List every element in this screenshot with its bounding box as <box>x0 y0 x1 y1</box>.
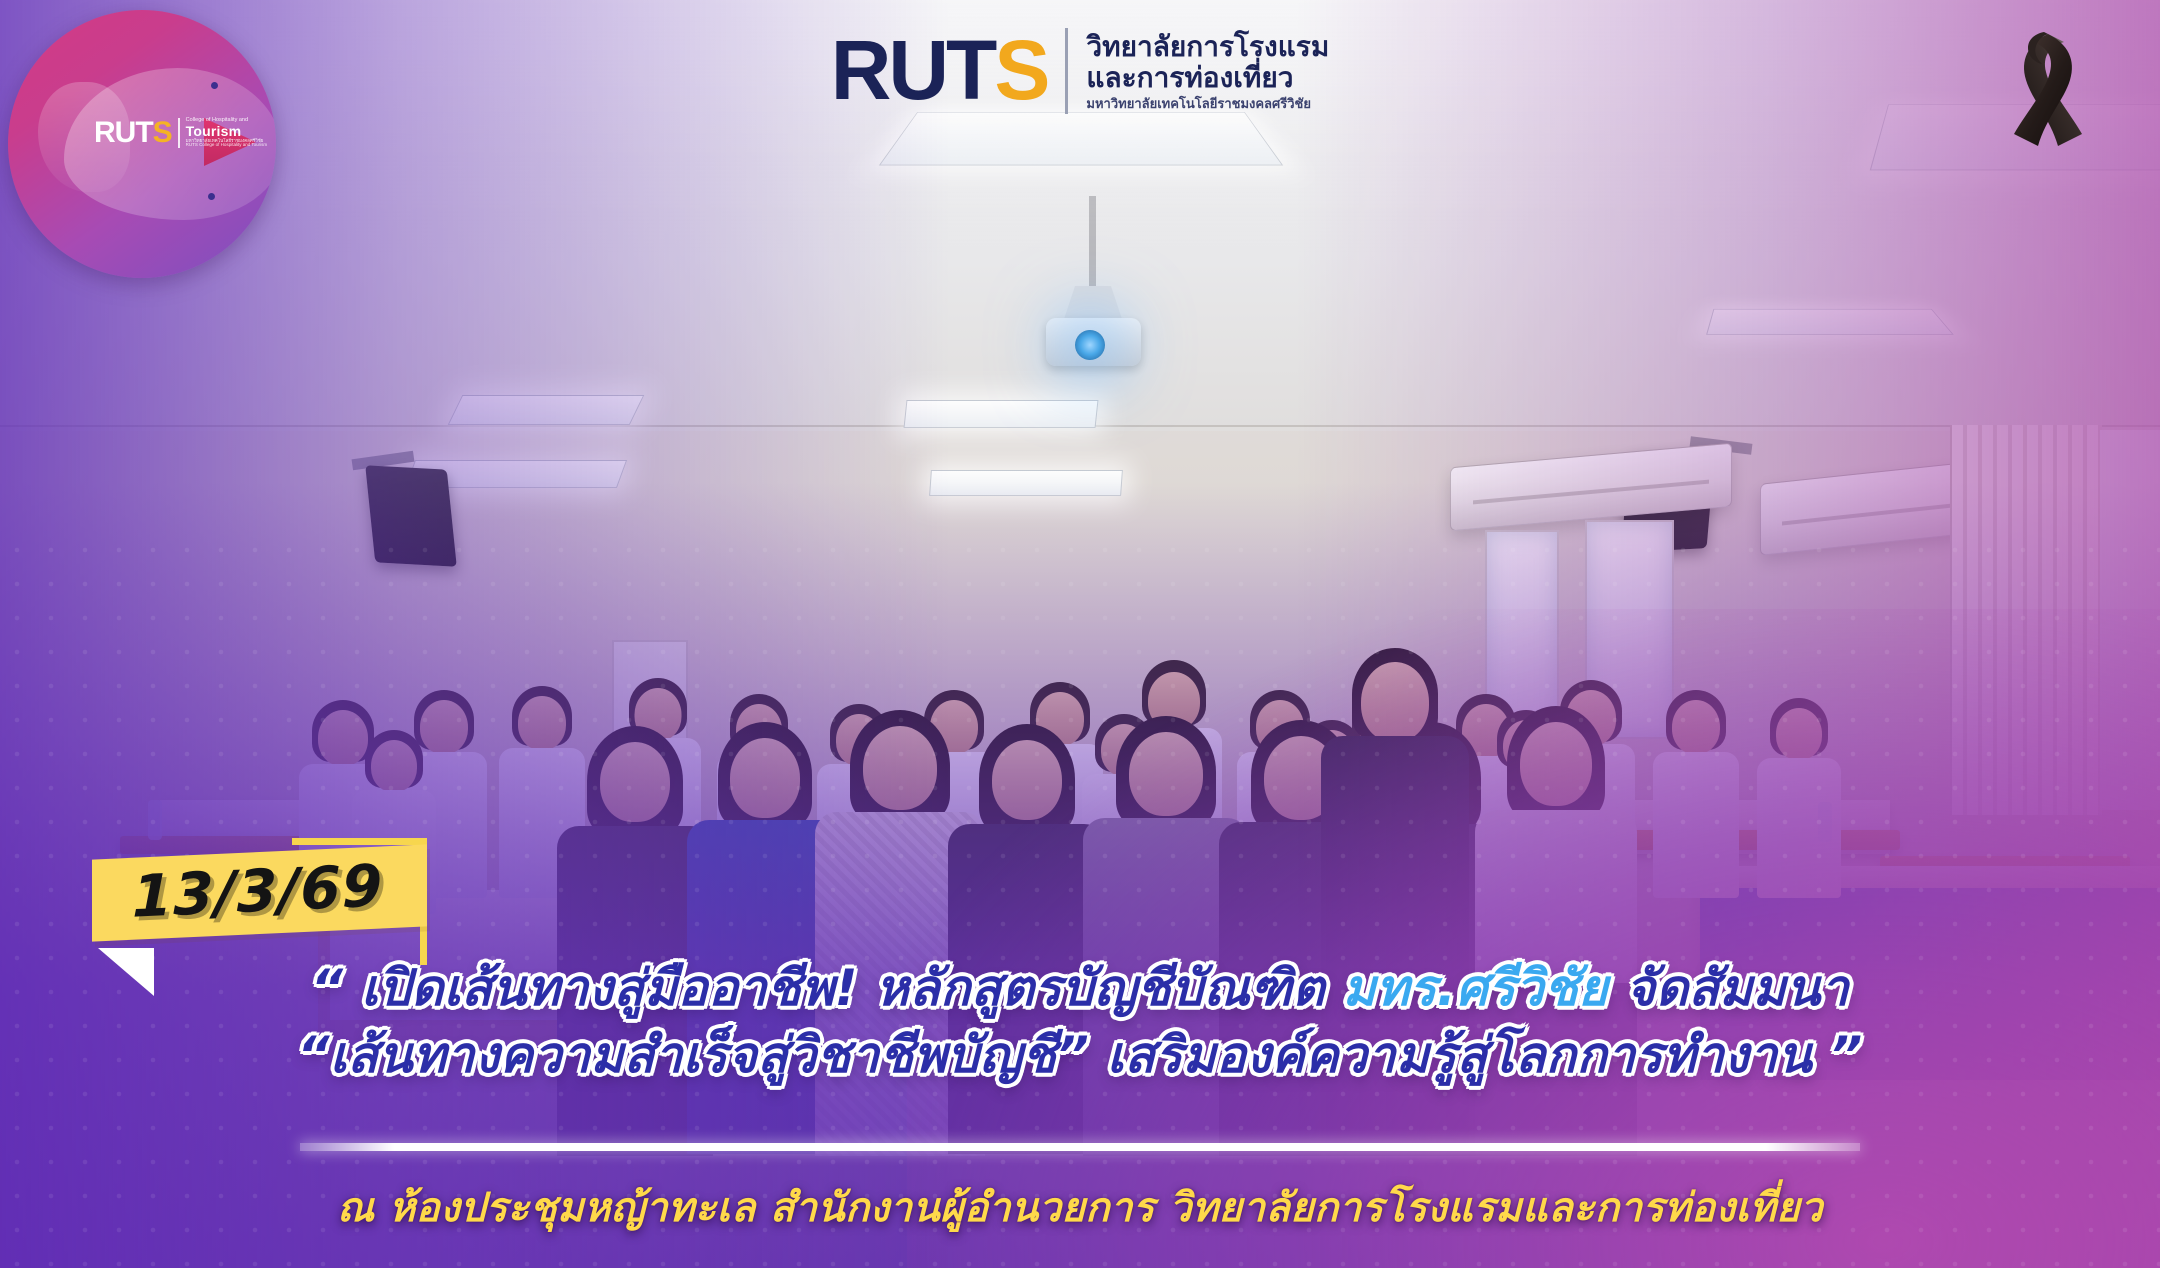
ruts-wordmark-primary: RUT <box>831 23 995 117</box>
headline-line-1: “ เปิดเส้นทางสู่มืออาชีพ! หลักสูตรบัญชีบ… <box>0 955 2160 1022</box>
circle-wordmark-accent: S <box>153 116 172 149</box>
circle-logo-wordmark: RUTS <box>94 118 172 148</box>
ruts-wordmark-accent: S <box>994 23 1047 117</box>
ruts-thai-line-2: และการท่องเที่ยว <box>1086 62 1329 93</box>
logo-dot <box>208 193 215 200</box>
logo-divider <box>1065 28 1068 114</box>
event-date-badge: 13/3/69 <box>92 852 427 934</box>
ruts-thai-line-3: มหาวิทยาลัยเทคโนโลยีราชมงคลศรีวิชัย <box>1086 97 1329 112</box>
headline-divider <box>300 1143 1860 1151</box>
headline-line-1-accent: มทร.ศรีวิชัย <box>1343 959 1608 1017</box>
circle-logo-line-bottom2: RUTS College of Hospitality and Tourism <box>186 143 267 148</box>
projector-lens <box>1075 330 1105 360</box>
circle-wordmark-primary: RUT <box>94 116 153 149</box>
ruts-thai-line-1: วิทยาลัยการโรงแรม <box>1086 31 1329 62</box>
headline-line-2: “เส้นทางความสำเร็จสู่วิชาชีพบัญชี” เสริม… <box>0 1022 2160 1089</box>
circle-logo-lockup: RUTS College of Hospitality and Tourism … <box>94 118 267 148</box>
headline-line-1-after: จัดสัมมนา <box>1608 959 1849 1017</box>
circle-logo-text: College of Hospitality and Tourism มหาวิ… <box>186 118 267 148</box>
circle-logo-line-top: College of Hospitality and <box>186 118 267 124</box>
event-poster: RUTS College of Hospitality and Tourism … <box>0 0 2160 1268</box>
badge-body: 13/3/69 <box>92 844 427 941</box>
ruts-wordmark: RUTS <box>831 33 1048 109</box>
black-mourning-ribbon-icon <box>1984 14 2112 164</box>
ruts-header-logo: RUTS วิทยาลัยการโรงแรม และการท่องเที่ยว … <box>0 28 2160 114</box>
logo-divider <box>178 118 180 148</box>
headline-line-1-before: “ เปิดเส้นทางสู่มืออาชีพ! หลักสูตรบัญชีบ… <box>311 959 1343 1017</box>
circle-logo-line-main: Tourism <box>186 124 267 139</box>
headline-block: “ เปิดเส้นทางสู่มืออาชีพ! หลักสูตรบัญชีบ… <box>0 955 2160 1089</box>
venue-caption: ณ ห้องประชุมหญ้าทะเล สำนักงานผู้อำนวยการ… <box>0 1175 2160 1239</box>
ruts-thai-name: วิทยาลัยการโรงแรม และการท่องเที่ยว มหาวิ… <box>1086 31 1329 111</box>
event-date-text: 13/3/69 <box>132 856 383 925</box>
